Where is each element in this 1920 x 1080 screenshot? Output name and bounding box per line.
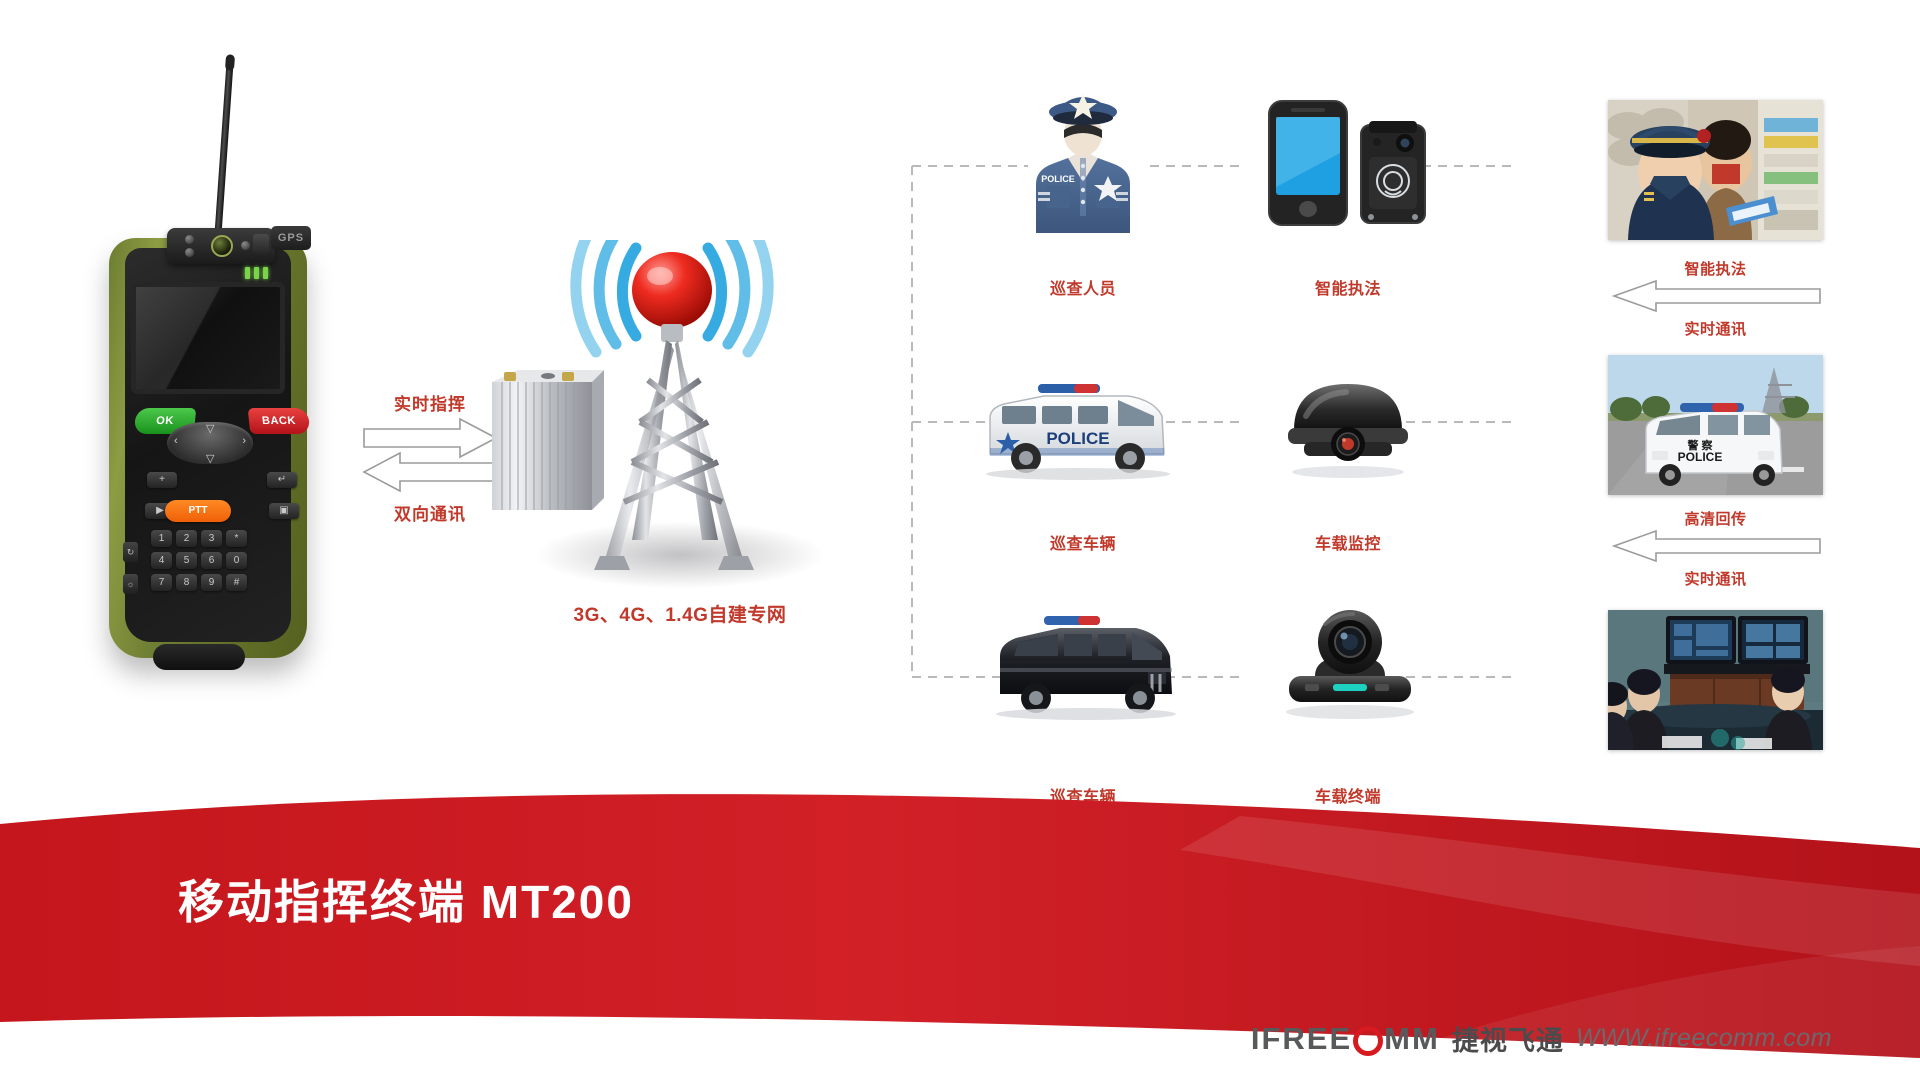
dpad-up-icon: ▽: [206, 422, 214, 435]
keypad-key-1[interactable]: 1: [151, 530, 172, 547]
row-1-return-arrow-group: 高清回传 实时通讯: [1608, 508, 1823, 589]
row-1-photo: 警 察 POLICE: [1608, 355, 1823, 495]
logo-wordmark: IFREE MM: [1251, 1021, 1440, 1057]
row-0-return-top-label: 智能执法: [1608, 258, 1823, 279]
numeric-keypad[interactable]: 123*4560789#: [151, 530, 247, 591]
dpad-navigation[interactable]: ▽ ▽ ‹ ›: [167, 422, 253, 464]
keypad-key-#[interactable]: #: [226, 574, 247, 591]
keypad-key-3[interactable]: 3: [201, 530, 222, 547]
smartphone-and-bodycam-icon: [1265, 95, 1435, 240]
camera-lens-icon: [211, 235, 233, 257]
dpad-left-icon: ‹: [174, 435, 178, 447]
camera-module-icon: [167, 228, 275, 264]
keypad-key-6[interactable]: 6: [201, 552, 222, 569]
svg-text:POLICE: POLICE: [1041, 174, 1075, 184]
bottom-grip: [153, 644, 245, 670]
slide-canvas: GPS OK BACK ▽ ▽ ‹ › + ↵ ▶ PTT ▣ ↻ ☼ 123*…: [0, 0, 1920, 1080]
row-2-photo: [1608, 610, 1823, 750]
power-key[interactable]: ↻: [123, 542, 138, 562]
back-button[interactable]: BACK: [248, 408, 311, 434]
dpad-down-icon: ▽: [206, 452, 214, 465]
row-1-return-bottom-label: 实时通讯: [1608, 568, 1823, 589]
svg-text:POLICE: POLICE: [1678, 450, 1723, 464]
brand-logo: IFREE MM 捷视飞通 WWW.ifreecomm.com: [1251, 1019, 1832, 1058]
row-0-return-arrow-group: 智能执法 实时通讯: [1608, 258, 1823, 339]
left-arrow-icon: [1608, 529, 1823, 563]
camera-sensor-dot: [185, 248, 194, 257]
keypad-key-8[interactable]: 8: [176, 574, 197, 591]
ptt-button[interactable]: PTT: [165, 500, 231, 522]
network-type-label: 3G、4G、1.4G自建专网: [430, 600, 930, 627]
device-screen: [131, 282, 285, 394]
camera-sensor-dot: [185, 235, 194, 244]
ptz-camera-icon: [1275, 598, 1425, 728]
left-arrow-icon: [1608, 279, 1823, 313]
camera-key[interactable]: ▣: [269, 503, 299, 519]
keypad-key-9[interactable]: 9: [201, 574, 222, 591]
flashlight-key[interactable]: ☼: [123, 574, 138, 594]
gps-tag-label: GPS: [271, 226, 311, 250]
keypad-key-4[interactable]: 4: [151, 552, 172, 569]
row-0-device-label: 智能执法: [1268, 275, 1428, 299]
police-van-icon: POLICE: [978, 370, 1178, 485]
page-title: 移动指挥终端 MT200: [178, 866, 634, 932]
handheld-terminal: GPS OK BACK ▽ ▽ ‹ › + ↵ ▶ PTT ▣ ↻ ☼ 123*…: [95, 60, 345, 680]
row-1-device-label: 车载监控: [1268, 530, 1428, 554]
police-officer-icon: POLICE: [1028, 78, 1138, 238]
keypad-key-7[interactable]: 7: [151, 574, 172, 591]
dome-camera-icon: [1278, 372, 1418, 487]
network-equipment-box-icon: [478, 356, 608, 536]
volume-up-key[interactable]: +: [147, 472, 177, 488]
keypad-key-0[interactable]: 0: [226, 552, 247, 569]
row-1-return-top-label: 高清回传: [1608, 508, 1823, 529]
black-command-van-icon: [990, 608, 1180, 728]
keypad-key-2[interactable]: 2: [176, 530, 197, 547]
keypad-key-5[interactable]: 5: [176, 552, 197, 569]
logo-ring-icon: [1353, 1026, 1383, 1056]
dpad-right-icon: ›: [242, 435, 246, 447]
svg-text:POLICE: POLICE: [1046, 429, 1109, 448]
logo-part2: MM: [1384, 1021, 1440, 1057]
base-station-group: 3G、4G、1.4G自建专网: [520, 240, 840, 640]
logo-part1: IFREE: [1251, 1021, 1352, 1057]
status-led-indicators: [245, 267, 268, 279]
logo-chinese-name: 捷视飞通: [1452, 1019, 1564, 1058]
row-0-photo: [1608, 100, 1823, 240]
row-0-return-bottom-label: 实时通讯: [1608, 318, 1823, 339]
enter-key[interactable]: ↵: [267, 472, 297, 488]
row-1-source-label: 巡查车辆: [1013, 530, 1153, 554]
website-url: WWW.ifreecomm.com: [1576, 1024, 1832, 1053]
row-0-source-label: 巡查人员: [1013, 275, 1153, 299]
camera-sensor-dot: [241, 241, 250, 250]
camera-flash-icon: [253, 234, 269, 257]
keypad-key-*[interactable]: *: [226, 530, 247, 547]
